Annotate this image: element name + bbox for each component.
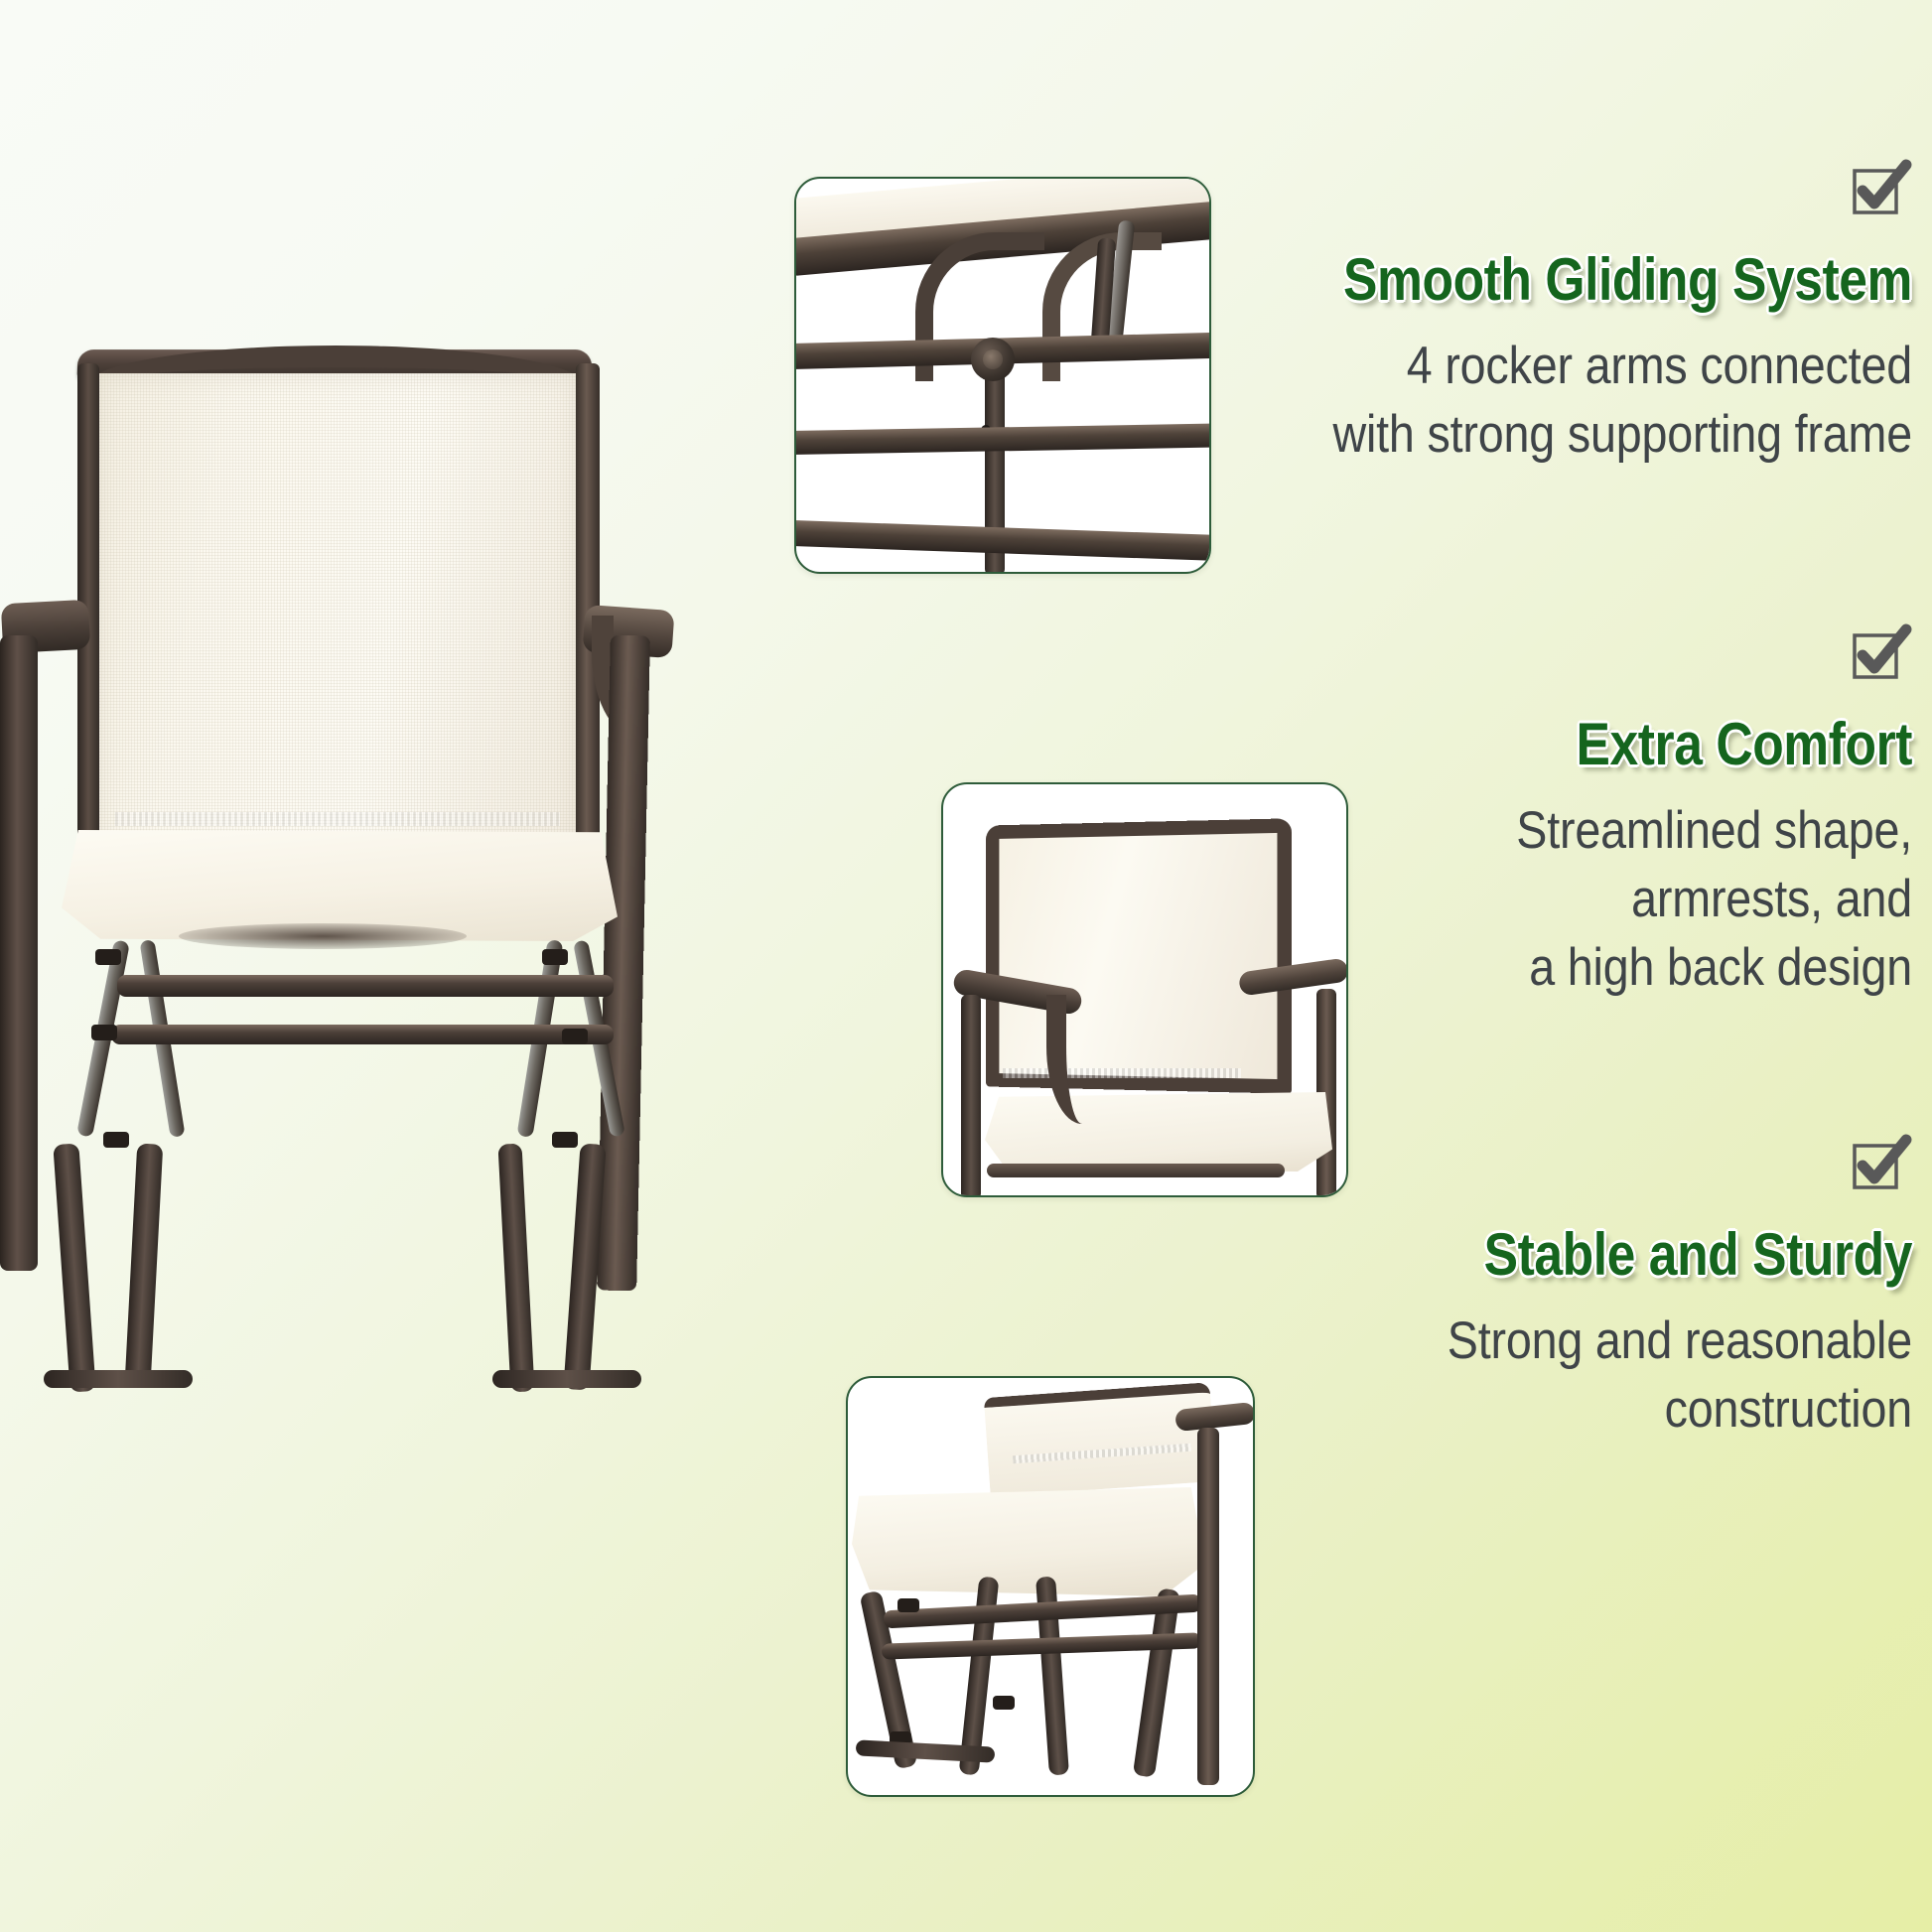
seat-underside-shadow [179,923,467,949]
feature-check-row [1019,159,1912,220]
base-crossbar-upper [117,975,614,997]
inset-pivot-joint [993,1696,1015,1710]
armrest-left-post [0,635,38,1271]
feature-body: Streamlined shape, armrests, and a high … [1161,797,1912,1003]
pivot-joint [91,1025,117,1040]
inset-base-leg [1133,1587,1180,1777]
main-product-photo [0,318,794,1370]
base-leg [497,1144,534,1393]
feature-body: 4 rocker arms connected with strong supp… [1126,333,1912,470]
feature-title: Stable and Sturdy [1161,1221,1912,1288]
inset-mesh-seam [1003,1068,1241,1078]
chair-backrest [77,340,594,856]
base-foot-rail [44,1370,193,1388]
base-leg [125,1143,164,1382]
pivot-joint [95,949,121,965]
inset-seat-fabric [852,1487,1205,1596]
feature-title: Smooth Gliding System [1144,246,1912,313]
feature-check-row [1038,1134,1912,1195]
pivot-joint [562,1029,588,1044]
inset-post-left [961,995,981,1197]
backrest-mesh-fabric [95,373,580,848]
base-leg [53,1143,95,1392]
checkbox-checked-icon [1851,1134,1912,1195]
inset-pivot-knuckle [971,338,1015,381]
inset-post-right [1197,1428,1219,1785]
pivot-joint [103,1132,129,1148]
base-foot-rail [492,1370,641,1388]
checkbox-checked-icon [1851,623,1912,685]
feature-title: Extra Comfort [1177,711,1912,777]
pivot-joint [552,1132,578,1148]
feature-block-stable-and-sturdy: Stable and Sturdy Strong and reasonable … [1038,1134,1912,1445]
checkbox-checked-icon [1851,159,1912,220]
mesh-seam-band [115,812,560,826]
base-crossbar-lower [111,1025,614,1044]
feature-check-row [1058,623,1912,685]
feature-body: Strong and reasonable construction [1144,1308,1912,1445]
feature-block-smooth-gliding-system: Smooth Gliding System 4 rocker arms conn… [1019,159,1912,470]
armrest-right-post [597,635,650,1292]
inset-pivot-joint [897,1598,919,1612]
pivot-joint [542,949,568,965]
feature-block-extra-comfort: Extra Comfort Streamlined shape, armrest… [1058,623,1912,1003]
